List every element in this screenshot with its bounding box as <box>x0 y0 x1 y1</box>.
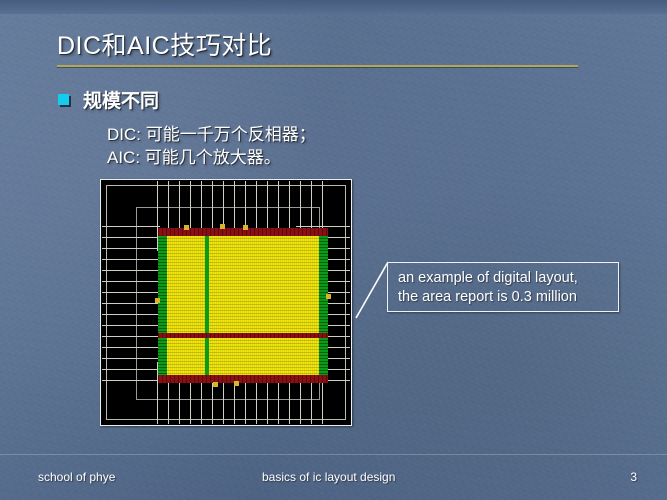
footer-organization: school of phye <box>38 470 115 484</box>
callout-line-2: the area report is 0.3 million <box>398 288 608 307</box>
callout-line-1: an example of digital layout, <box>398 269 608 288</box>
core-pad <box>234 381 239 386</box>
callout-textbox: an example of digital layout, the area r… <box>387 262 619 312</box>
bullet-heading: 规模不同 <box>83 86 159 113</box>
page-title: DIC和AIC技巧对比 <box>57 26 272 62</box>
footer-divider <box>0 454 667 455</box>
slide: DIC和AIC技巧对比 规模不同 DIC: 可能一千万个反相器； AIC: 可能… <box>0 0 667 500</box>
core-pad <box>326 294 331 299</box>
bullet-row: 规模不同 <box>58 86 159 113</box>
sub-line-dic: DIC: 可能一千万个反相器； <box>107 120 316 145</box>
core-pad <box>184 225 189 230</box>
layout-core-block <box>158 228 328 383</box>
title-divider <box>57 65 578 67</box>
sub-line-aic: AIC: 可能几个放大器。 <box>107 143 281 168</box>
core-vertical-divider <box>205 228 209 383</box>
routing-lines-left <box>102 226 160 384</box>
core-power-band-middle <box>158 333 328 338</box>
footer-page-number: 3 <box>630 470 637 484</box>
digital-layout-image <box>100 179 352 426</box>
core-pad <box>220 224 225 229</box>
core-edge-left <box>158 228 167 383</box>
footer-subject: basics of ic layout design <box>262 470 395 484</box>
core-pad <box>155 298 160 303</box>
slide-footer: school of phye basics of ic layout desig… <box>0 454 667 500</box>
square-bullet-icon <box>58 94 69 105</box>
core-pad <box>243 225 248 230</box>
core-pad <box>213 382 218 387</box>
layout-canvas <box>102 181 350 424</box>
core-power-band-bottom <box>158 375 328 383</box>
slide-top-band <box>0 0 667 14</box>
core-edge-right <box>319 228 328 383</box>
